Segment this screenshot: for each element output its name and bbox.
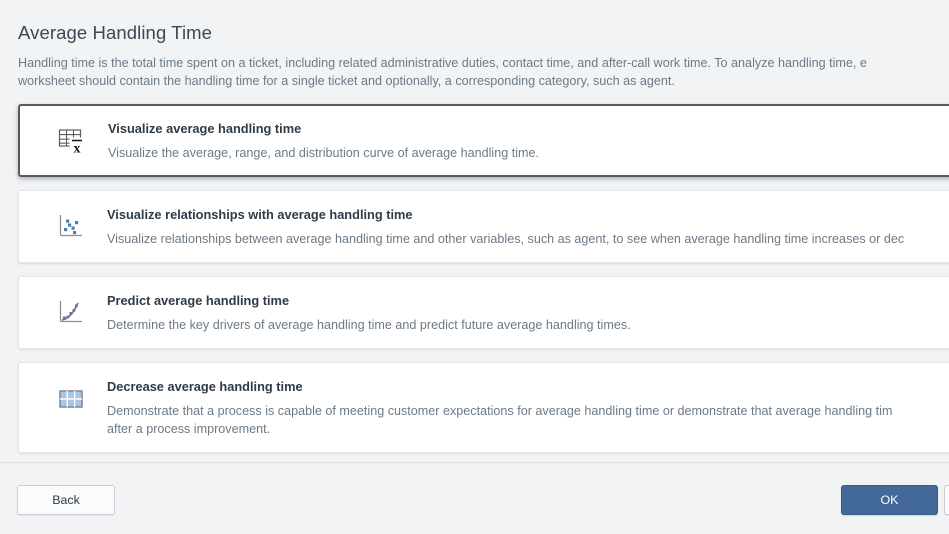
card-body: Visualize average handling time Visualiz… [108,119,949,162]
card-title: Visualize average handling time [108,120,949,137]
card-description-line-1: Visualize relationships between average … [107,232,904,246]
card-description-line-2: after a process improvement. [107,420,949,438]
cancel-button[interactable]: Cancel [944,485,949,515]
fitted-line-plot-icon [51,293,91,333]
card-body: Decrease average handling time Demonstra… [107,377,949,438]
blue-grid-icon [51,379,91,419]
dialog-header: Average Handling Time Handling time is t… [0,0,949,90]
scatterplot-icon [51,207,91,247]
card-title: Visualize relationships with average han… [107,206,949,223]
back-button[interactable]: Back [17,485,115,515]
page-title: Average Handling Time [18,22,949,44]
option-card-visualize-average-handling-time[interactable]: x Visualize average handling time Visual… [18,104,949,177]
card-title: Decrease average handling time [107,378,949,395]
card-description: Visualize the average, range, and distri… [108,144,949,162]
page-description: Handling time is the total time spent on… [18,54,949,90]
option-card-visualize-relationships[interactable]: Visualize relationships with average han… [18,190,949,263]
page-description-line-1: Handling time is the total time spent on… [18,56,867,70]
option-card-decrease-average-handling-time[interactable]: Decrease average handling time Demonstra… [18,362,949,453]
page-description-line-2: worksheet should contain the handling ti… [18,72,949,90]
ok-button[interactable]: OK [841,485,938,515]
dialog-footer: Back OK Cancel [0,462,949,534]
card-description: Determine the key drivers of average han… [107,316,949,334]
task-options-list: x Visualize average handling time Visual… [0,90,949,462]
card-description: Visualize relationships between average … [107,230,949,248]
worksheet-xbar-icon: x [52,121,92,161]
svg-text:x: x [74,142,81,157]
option-card-predict-average-handling-time[interactable]: Predict average handling time Determine … [18,276,949,349]
card-description-line-1: Visualize the average, range, and distri… [108,146,539,160]
card-title: Predict average handling time [107,292,949,309]
card-body: Visualize relationships with average han… [107,205,949,248]
average-handling-time-dialog: Average Handling Time Handling time is t… [0,0,949,534]
card-description-line-1: Demonstrate that a process is capable of… [107,404,892,418]
card-description: Demonstrate that a process is capable of… [107,402,949,438]
card-description-line-1: Determine the key drivers of average han… [107,318,631,332]
card-body: Predict average handling time Determine … [107,291,949,334]
